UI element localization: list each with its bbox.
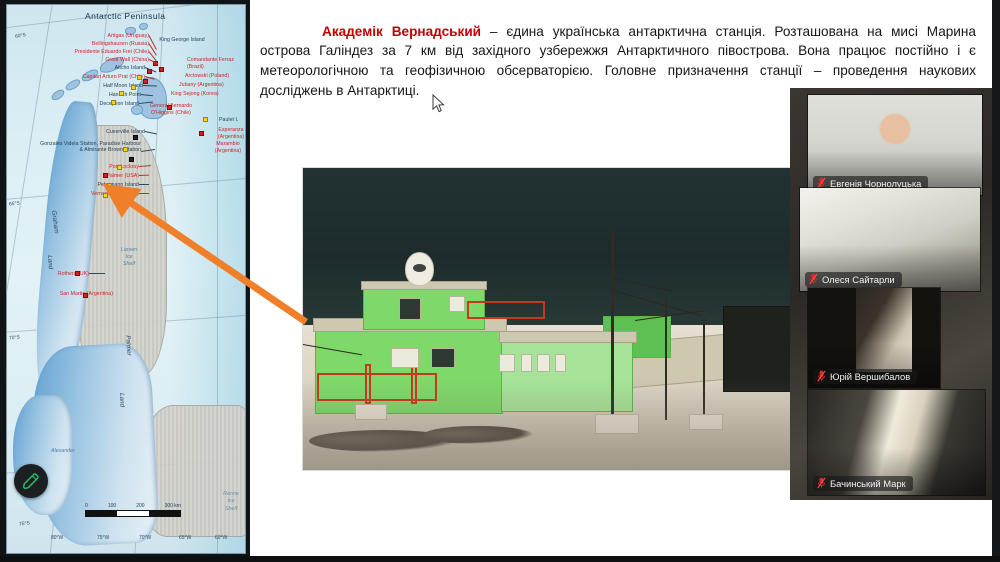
station-dot — [129, 157, 134, 162]
station-label: Hannah Point — [61, 92, 141, 99]
station-label: Esperanza (Argentina) — [211, 127, 246, 140]
station-label: King George Island — [159, 37, 205, 44]
map-title: Antarctic Peninsula — [85, 11, 165, 21]
scale-tick: 300 km — [165, 503, 181, 509]
alexander-island-landmass — [13, 395, 73, 515]
station-dot — [159, 67, 164, 72]
photo-window — [399, 298, 421, 320]
station-dot-vernadsky — [103, 193, 108, 198]
station-label: King Sejong (Korea) — [171, 91, 219, 98]
station-photo — [302, 167, 800, 471]
scale-tick: 0 — [85, 503, 88, 509]
leader-line — [89, 273, 105, 274]
station-dot — [131, 85, 136, 90]
leader-line — [139, 184, 149, 185]
station-dot — [143, 79, 148, 84]
station-label: Artigas (Uruguay) — [63, 33, 149, 40]
photo-window — [499, 354, 515, 372]
longitude-label: 80°W — [51, 535, 63, 541]
map-scale-bar: 0 100 200 300 km — [85, 503, 181, 517]
mic-muted-icon — [817, 477, 826, 489]
station-dot — [111, 100, 116, 105]
mouse-cursor — [432, 94, 446, 114]
presentation-screen: Antarctic Peninsula 60°S 65°S 70°S 75°S … — [0, 0, 1000, 562]
region-label-alexander: Alexander — [51, 448, 75, 455]
station-dot — [199, 131, 204, 136]
photo-window — [449, 296, 465, 312]
participant-name-3: Юрій Вершибалов — [830, 371, 910, 382]
video-tile-1[interactable]: Евгенія Чорнолуцька — [808, 95, 982, 195]
region-label-graham-land: Land — [45, 255, 54, 269]
station-dot — [203, 117, 208, 122]
scale-tick: 100 — [108, 503, 116, 509]
station-label: Arctowski (Poland) — [185, 73, 229, 80]
participant-name-1: Евгенія Чорнолуцька — [830, 178, 921, 189]
photo-window — [537, 354, 550, 372]
photo-window — [555, 354, 566, 372]
station-name-highlight: Академік Вернадський — [322, 24, 481, 39]
leader-line — [149, 35, 157, 49]
longitude-label: 70°W — [139, 535, 151, 541]
station-label: Port Lockroy — [63, 164, 139, 171]
video-tile-3[interactable]: Юрій Вершибалов — [808, 288, 940, 388]
photo-snow-shadow — [303, 379, 799, 470]
participant-name-4: Бачинський Марк — [830, 478, 906, 489]
station-label: Comandante Ferraz (Brazil) — [187, 57, 245, 70]
station-dot — [133, 135, 138, 140]
annotate-pen-button[interactable] — [14, 464, 48, 498]
latitude-label: 70°S — [9, 335, 20, 342]
photo-roof-railing — [467, 301, 545, 319]
region-label-ronne: RonneIceShelf — [223, 491, 239, 513]
right-edge-rail — [992, 0, 1000, 562]
station-label: Marambio (Argentina) — [207, 141, 246, 154]
station-label-vernadsky: Vernadsky (Ukraine) — [41, 191, 139, 198]
station-dot — [123, 147, 128, 152]
photo-window — [391, 348, 419, 368]
map-scale-ticks: 0 100 200 300 km — [85, 503, 181, 509]
photo-radome — [405, 252, 434, 286]
leader-line — [145, 131, 157, 134]
station-label: San Martin (Argentina) — [21, 291, 113, 298]
region-label-palmer-land: Land — [117, 393, 125, 407]
station-dot — [75, 271, 80, 276]
scale-bar-graphic — [85, 510, 181, 517]
latitude-label: 65°S — [9, 200, 21, 207]
map-panel: Antarctic Peninsula 60°S 65°S 70°S 75°S … — [0, 0, 250, 562]
latitude-label: 60°S — [15, 32, 27, 40]
longitude-label: 60°W — [215, 535, 227, 541]
mic-muted-icon — [817, 370, 826, 382]
station-label: Deception Island — [53, 101, 139, 108]
station-label: Great Wall (China) — [57, 57, 149, 64]
photo-window — [521, 354, 532, 372]
station-label: Presidente Eduardo Frei (Chile) — [21, 49, 149, 56]
station-label: Bellingshausen (Russia) — [45, 41, 149, 48]
region-label-palmer: Palmer — [123, 335, 132, 356]
station-dot — [119, 91, 124, 96]
participant-name-2: Олеся Сайтарли — [822, 274, 895, 285]
video-tile-4[interactable]: Бачинський Марк — [808, 390, 985, 495]
video-tile-2[interactable]: Олеся Сайтарли — [800, 188, 980, 291]
station-dot — [137, 75, 142, 80]
station-dot — [107, 183, 112, 188]
bottom-edge-rail — [0, 556, 1000, 562]
pen-icon — [21, 471, 41, 491]
ronne-ice-shelf-area — [147, 405, 246, 537]
station-label: Petermann Island — [43, 182, 139, 189]
longitude-label: 75°W — [97, 535, 109, 541]
station-label: Palmer (USA) — [57, 173, 139, 180]
participant-name-badge-3: Юрій Вершибалов — [813, 369, 917, 384]
scale-tick: 200 — [136, 503, 144, 509]
participant-name-badge-2: Олеся Сайтарли — [805, 272, 902, 287]
station-label: Jubany (Argentina) — [179, 82, 224, 89]
station-dot — [167, 105, 172, 110]
photo-window — [431, 348, 455, 368]
longitude-label: 65°W — [179, 535, 191, 541]
station-label: Aitcho Island — [63, 65, 145, 72]
photo-wing-roof — [499, 331, 637, 343]
station-dot — [117, 165, 122, 170]
latitude-label: 75°S — [19, 521, 30, 528]
station-dot — [83, 293, 88, 298]
leader-line — [139, 193, 149, 194]
station-dot — [103, 173, 108, 178]
island-shape — [139, 23, 148, 30]
participant-name-badge-4: Бачинський Марк — [813, 476, 913, 491]
region-label-larsen: LarsenIceShelf — [113, 247, 145, 268]
station-label: Capitan Arturo Prat (Chile) — [47, 74, 145, 81]
mic-muted-icon — [809, 273, 818, 285]
station-label: Paulet I. — [219, 117, 238, 124]
